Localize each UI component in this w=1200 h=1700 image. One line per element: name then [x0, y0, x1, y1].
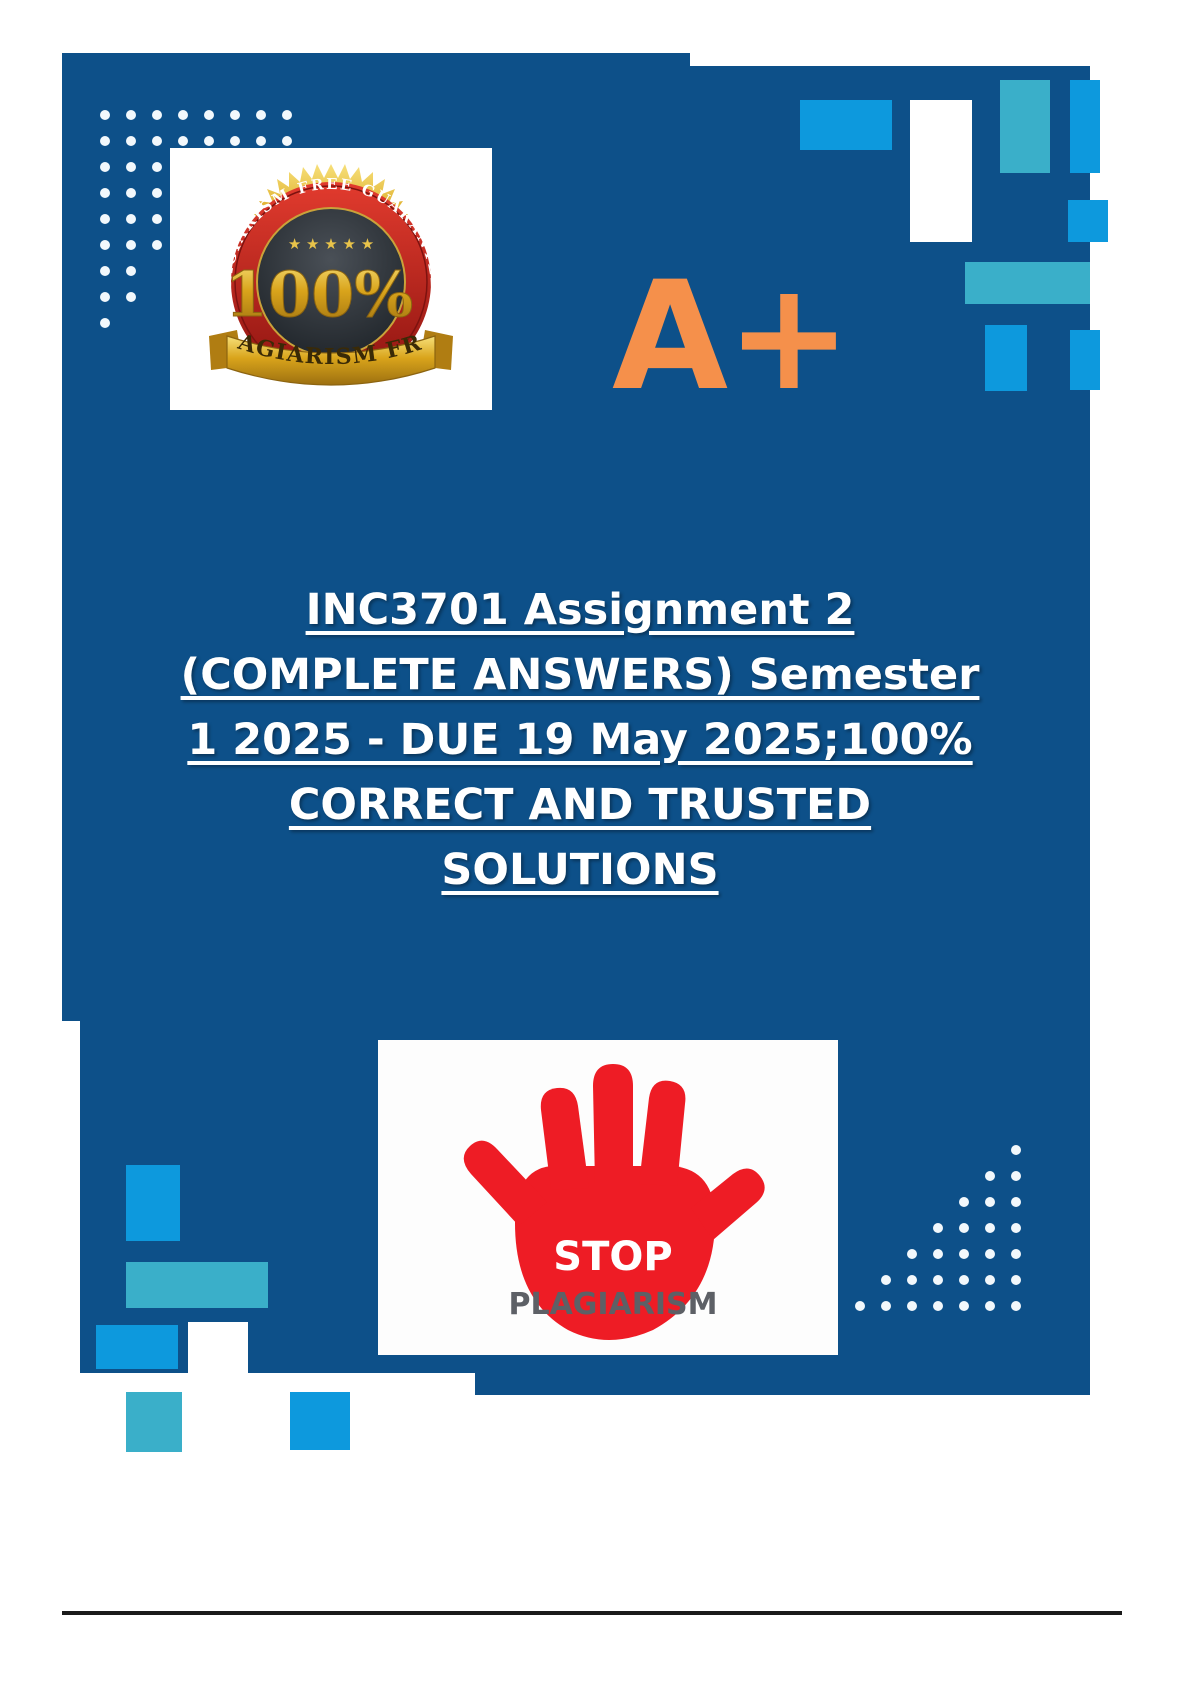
- decor-dot: [126, 136, 136, 146]
- decor-bar-bottom-left-2: [126, 1262, 268, 1308]
- white-notch-bottom: [62, 1373, 475, 1395]
- decor-bar-top-right-3: [1000, 80, 1050, 173]
- decor-dot: [985, 1171, 995, 1181]
- stop-plagiarism-hand-icon: STOP PLAGIARISM: [423, 1048, 793, 1348]
- decor-dot: [100, 214, 110, 224]
- decor-dot: [178, 136, 188, 146]
- decor-dot: [985, 1249, 995, 1259]
- decor-dot: [907, 1249, 917, 1259]
- decor-bar-top-right-2: [910, 100, 972, 242]
- decor-bar-top-right-1: [800, 100, 892, 150]
- page-title: INC3701 Assignment 2 (COMPLETE ANSWERS) …: [80, 578, 1080, 903]
- navy-band-top-left: [62, 53, 690, 113]
- decor-bar-bottom-left-3: [96, 1325, 178, 1369]
- plagiarism-free-badge-icon: PLAGIARISM FREE GUARANTEED ★ ★ ★ ★ ★ 100…: [191, 154, 471, 404]
- badge-stars: ★ ★ ★ ★ ★: [288, 235, 374, 253]
- decor-dot: [959, 1223, 969, 1233]
- decor-dot: [100, 110, 110, 120]
- decor-dot: [933, 1301, 943, 1311]
- decor-dot: [985, 1223, 995, 1233]
- decor-dot: [126, 162, 136, 172]
- decor-bar-top-right-4: [1070, 80, 1100, 173]
- decor-dot: [959, 1197, 969, 1207]
- decor-dot: [100, 240, 110, 250]
- decor-dot: [959, 1275, 969, 1285]
- badge-percent-value: 100%: [225, 258, 413, 331]
- page-title-line-5: SOLUTIONS: [80, 838, 1080, 903]
- decor-bar-bottom-left-1: [126, 1165, 180, 1241]
- decor-dot: [907, 1275, 917, 1285]
- decor-bar-top-right-8: [985, 325, 1027, 391]
- cover-page: PLAGIARISM FREE GUARANTEED ★ ★ ★ ★ ★ 100…: [0, 0, 1200, 1700]
- decor-bar-bottom-left-5: [126, 1392, 182, 1452]
- page-title-line-4: CORRECT AND TRUSTED: [80, 773, 1080, 838]
- plagiarism-free-badge: PLAGIARISM FREE GUARANTEED ★ ★ ★ ★ ★ 100…: [170, 148, 492, 410]
- decor-dot: [152, 188, 162, 198]
- page-title-line-2: (COMPLETE ANSWERS) Semester: [80, 643, 1080, 708]
- navy-panel-footer: [475, 1373, 1090, 1395]
- decor-dot: [152, 214, 162, 224]
- decor-bar-bottom-left-4: [188, 1322, 248, 1452]
- decor-dot: [881, 1301, 891, 1311]
- decor-dot: [959, 1301, 969, 1311]
- decor-dot: [126, 110, 136, 120]
- decor-dot: [230, 136, 240, 146]
- decor-dot: [933, 1223, 943, 1233]
- decor-dot: [100, 188, 110, 198]
- decor-bar-top-right-5: [1068, 200, 1108, 242]
- decor-dot: [985, 1301, 995, 1311]
- stop-text: STOP: [553, 1234, 672, 1280]
- decor-dot: [1011, 1275, 1021, 1285]
- decor-dot: [933, 1249, 943, 1259]
- decor-dot: [126, 214, 136, 224]
- decor-dot: [282, 136, 292, 146]
- decor-dot: [152, 136, 162, 146]
- decor-dot: [1011, 1197, 1021, 1207]
- decor-dot: [282, 110, 292, 120]
- decor-dot: [230, 110, 240, 120]
- decor-dot: [1011, 1249, 1021, 1259]
- decor-bar-bottom-left-6: [290, 1392, 350, 1450]
- page-title-line-3: 1 2025 - DUE 19 May 2025;100%: [80, 708, 1080, 773]
- decor-dot: [204, 110, 214, 120]
- decor-dot: [985, 1275, 995, 1285]
- decor-dot: [178, 110, 188, 120]
- decor-dot: [256, 136, 266, 146]
- white-notch-top: [690, 53, 1090, 66]
- a-plus-grade-mark: A+: [612, 262, 850, 412]
- decor-dot: [100, 162, 110, 172]
- decor-dot: [126, 188, 136, 198]
- decor-dot: [881, 1275, 891, 1285]
- page-title-line-1: INC3701 Assignment 2: [80, 578, 1080, 643]
- decor-bar-top-right-7: [1070, 330, 1100, 390]
- decor-dot: [1011, 1223, 1021, 1233]
- decor-dot: [256, 110, 266, 120]
- plagiarism-text: PLAGIARISM: [508, 1287, 717, 1322]
- decor-dot: [126, 266, 136, 276]
- decor-dot: [100, 292, 110, 302]
- stop-plagiarism-card: STOP PLAGIARISM: [378, 1040, 838, 1355]
- decor-dot: [933, 1275, 943, 1285]
- decor-bar-bottom-left-0: [62, 1095, 80, 1379]
- decor-dot: [100, 266, 110, 276]
- decor-dot: [1011, 1145, 1021, 1155]
- decor-dot: [1011, 1301, 1021, 1311]
- decor-dot: [1011, 1171, 1021, 1181]
- decor-dot: [152, 162, 162, 172]
- decor-dot: [959, 1249, 969, 1259]
- decor-bar-top-right-6: [965, 262, 1090, 304]
- bottom-divider: [62, 1611, 1122, 1615]
- decor-dot: [126, 292, 136, 302]
- decor-dot: [152, 110, 162, 120]
- decor-dot: [126, 240, 136, 250]
- decor-dot: [204, 136, 214, 146]
- decor-dot: [100, 318, 110, 328]
- decor-dot: [855, 1301, 865, 1311]
- decor-dot: [100, 136, 110, 146]
- decor-dot: [985, 1197, 995, 1207]
- dot-pattern-bottom-right: [855, 1145, 1055, 1325]
- decor-dot: [907, 1301, 917, 1311]
- decor-dot: [152, 240, 162, 250]
